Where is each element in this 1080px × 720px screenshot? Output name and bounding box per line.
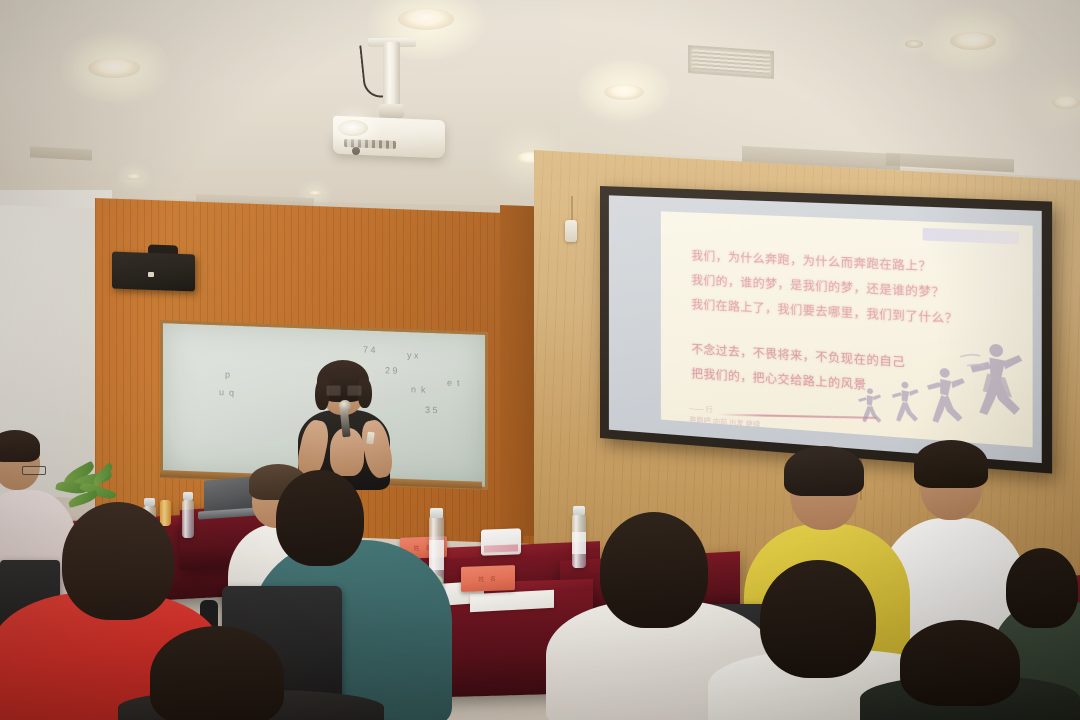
slide-footnote-2: 奔跑吧 向前 出发 继续	[689, 415, 760, 431]
projector-foot	[352, 147, 360, 155]
whiteboard-ink: 7 4	[363, 344, 376, 355]
downlight-2	[398, 8, 454, 30]
speaker-led-icon	[148, 272, 154, 277]
presenter-glasses-icon	[326, 385, 360, 394]
slide-text-line-3: 我们在路上了，我们要去哪里，我们到了什么？	[691, 296, 958, 327]
audience-head	[760, 560, 876, 678]
downlight-4	[950, 32, 996, 50]
juice-bottle	[160, 500, 171, 526]
audience-head	[276, 470, 364, 566]
water-bottle	[182, 500, 194, 538]
whiteboard-ink: 3 5	[425, 405, 438, 416]
projector-lens	[338, 120, 368, 136]
downlight-small-3	[905, 40, 923, 48]
water-bottle-cap	[430, 508, 443, 518]
downlight-3	[604, 84, 644, 100]
audience-head	[600, 512, 708, 628]
tissue-box-band	[484, 544, 518, 552]
whiteboard-ink: u q	[219, 387, 234, 399]
conference-room-photo: 7 4 2 9 y x n k 3 5 m e t p u q 我们，为什么奔跑…	[0, 0, 1080, 720]
water-bottle	[572, 514, 586, 568]
water-bottle-cap	[183, 492, 193, 500]
projector-mount-collar	[379, 104, 404, 118]
name-card: 姓 名	[461, 565, 515, 592]
water-bottle-cap	[573, 506, 585, 515]
audience-head	[150, 626, 284, 720]
whiteboard-ink: 2 9	[385, 365, 398, 376]
whiteboard-ink: n k	[411, 384, 426, 396]
audience-head	[900, 620, 1020, 706]
whiteboard-ink: y x	[407, 350, 419, 361]
running-silhouettes	[823, 328, 1033, 443]
ac-vent-louvers	[692, 49, 770, 74]
audience-head	[1006, 548, 1078, 628]
audience-hair	[0, 430, 40, 462]
whiteboard-ink: p	[225, 369, 230, 380]
downlight-small-1	[125, 173, 143, 180]
audience-head	[62, 502, 174, 620]
slide-footnote-1: —— 行	[689, 403, 712, 415]
projection-screen: 我们，为什么奔跑，为什么而奔跑在路上？ 我们的，谁的梦，是我们的梦，还是谁的梦？…	[600, 186, 1052, 474]
slide-text-line-1: 我们，为什么奔跑，为什么而奔跑在路上？	[691, 247, 931, 275]
slide-watermark-logo	[923, 228, 1019, 245]
audience-hair	[914, 440, 988, 488]
screen-surface: 我们，为什么奔跑，为什么而奔跑在路上？ 我们的，谁的梦，是我们的梦，还是谁的梦？…	[609, 195, 1042, 463]
downlight-small-2	[307, 190, 323, 196]
downlight-1	[88, 58, 140, 78]
downlight-6	[1052, 96, 1080, 109]
slide-text-line-2: 我们的，谁的梦，是我们的梦，还是谁的梦？	[691, 271, 944, 300]
water-bottle-cap	[144, 498, 155, 506]
audience-hair	[784, 446, 864, 496]
ceiling-hung-sensor	[565, 220, 577, 242]
whiteboard-ink: e t	[447, 378, 460, 389]
ac-vent-square	[688, 45, 774, 79]
projected-slide: 我们，为什么奔跑，为什么而奔跑在路上？ 我们的，谁的梦，是我们的梦，还是谁的梦？…	[661, 211, 1033, 447]
sensor-cable	[571, 196, 573, 220]
name-card-text: 姓 名	[478, 574, 498, 584]
audience-glasses-icon	[22, 466, 46, 475]
microphone-head	[339, 400, 351, 411]
